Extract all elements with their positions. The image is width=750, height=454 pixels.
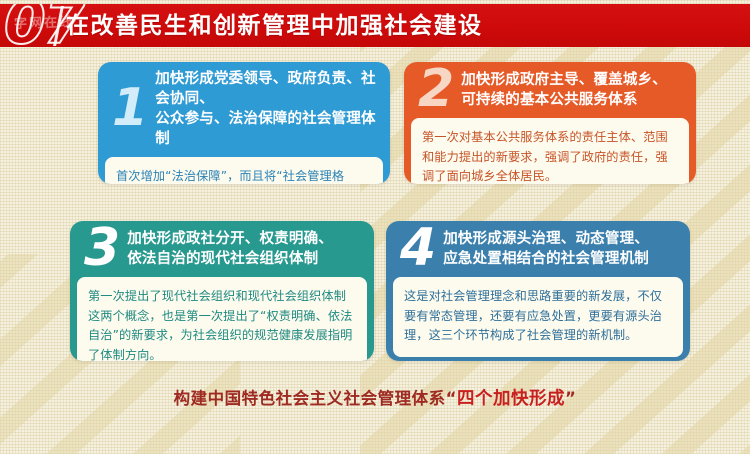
card-4-heading: 加快形成源头治理、动态管理、 应急处置相结合的社会管理机制 xyxy=(443,229,678,269)
card-2-number: 2 xyxy=(418,66,453,114)
card-1-heading: 加快形成党委领导、政府负责、社会协同、 公众参与、法治保障的社会管理体制 xyxy=(155,69,378,149)
watermark-text: 字网在线 xyxy=(14,11,75,32)
page-title: 在改善民生和创新管理中加强社会建设 xyxy=(66,9,483,43)
footer-emphasis-text: 四个加快形成 xyxy=(457,389,565,409)
footer-prefix-text: 构建中国特色社会主义社会管理体系 xyxy=(174,389,446,408)
card-2-heading-line-1: 加快形成政府主导、覆盖城乡、 xyxy=(461,70,684,90)
card-3-number: 3 xyxy=(84,225,119,273)
card-4-heading-line-1: 加快形成源头治理、动态管理、 xyxy=(443,229,678,249)
card-2-header: 2 加快形成政府主导、覆盖城乡、 可持续的基本公共服务体系 xyxy=(404,62,696,118)
footer-open-quote: “ xyxy=(446,389,457,408)
card-4-body-text: 这是对社会管理理念和思路重要的新发展，不仅要有常态管理，还要有应急处置，更要有源… xyxy=(393,277,683,357)
card-3-body-text: 第一次提出了现代社会组织和现代社会组织体制这两个概念，也是第一次提出了“权责明确… xyxy=(77,277,367,361)
header-bar: 07 在改善民生和创新管理中加强社会建设 字网在线 xyxy=(0,4,750,47)
info-card-1[interactable]: 1 加快形成党委领导、政府负责、社会协同、 公众参与、法治保障的社会管理体制 首… xyxy=(98,62,390,184)
card-3-heading-line-2: 依法自治的现代社会组织体制 xyxy=(127,249,362,269)
card-2-heading: 加快形成政府主导、覆盖城乡、 可持续的基本公共服务体系 xyxy=(461,70,684,110)
info-card-3[interactable]: 3 加快形成政社分开、权责明确、 依法自治的现代社会组织体制 第一次提出了现代社… xyxy=(70,221,374,361)
info-card-2[interactable]: 2 加快形成政府主导、覆盖城乡、 可持续的基本公共服务体系 第一次对基本公共服务… xyxy=(404,62,696,184)
card-2-heading-line-2: 可持续的基本公共服务体系 xyxy=(461,90,684,110)
card-1-header: 1 加快形成党委领导、政府负责、社会协同、 公众参与、法治保障的社会管理体制 xyxy=(98,62,390,157)
card-4-header: 4 加快形成源头治理、动态管理、 应急处置相结合的社会管理机制 xyxy=(386,221,690,277)
card-3-heading: 加快形成政社分开、权责明确、 依法自治的现代社会组织体制 xyxy=(127,229,362,269)
slide-canvas: 07 在改善民生和创新管理中加强社会建设 字网在线 1 加快形成党委领导、政府负… xyxy=(0,0,750,454)
footer-close-quote: ” xyxy=(565,389,576,408)
card-4-heading-line-2: 应急处置相结合的社会管理机制 xyxy=(443,249,678,269)
card-1-heading-line-2: 公众参与、法治保障的社会管理体制 xyxy=(155,109,378,149)
footer-caption: 构建中国特色社会主义社会管理体系“四个加快形成” xyxy=(0,385,750,410)
card-1-number: 1 xyxy=(112,85,147,133)
info-card-4[interactable]: 4 加快形成源头治理、动态管理、 应急处置相结合的社会管理机制 这是对社会管理理… xyxy=(386,221,690,361)
card-2-body-text: 第一次对基本公共服务体系的责任主体、范围和能力提出的新要求，强调了政府的责任，强… xyxy=(411,118,689,184)
card-3-heading-line-1: 加快形成政社分开、权责明确、 xyxy=(127,229,362,249)
card-1-heading-line-1: 加快形成党委领导、政府负责、社会协同、 xyxy=(155,69,378,109)
card-1-body-text: 首次增加“法治保障”，而且将“社会管理格局”改为“社会管理体制”，突出了依法进行… xyxy=(105,157,383,184)
card-3-header: 3 加快形成政社分开、权责明确、 依法自治的现代社会组织体制 xyxy=(70,221,374,277)
card-4-number: 4 xyxy=(400,225,435,273)
